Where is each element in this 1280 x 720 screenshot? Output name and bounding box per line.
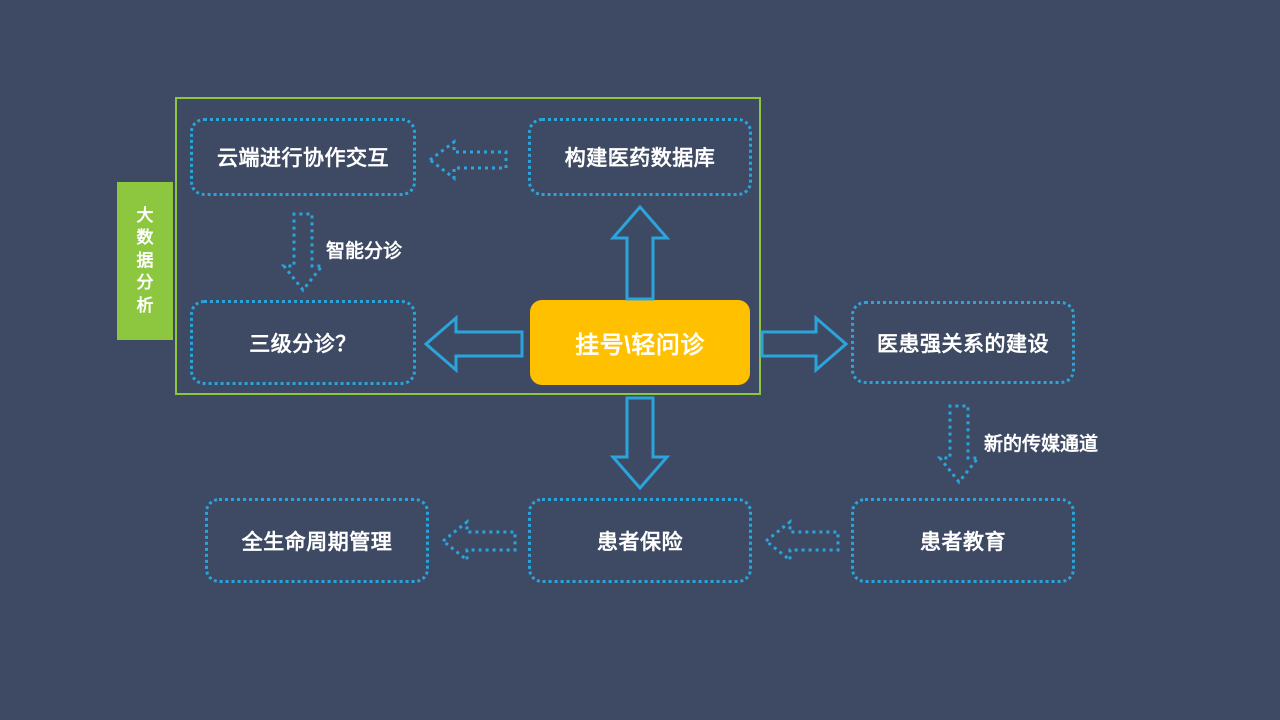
big-data-analysis-tab: 大 数 据 分 析 — [117, 182, 173, 340]
tab-char-3: 据 — [137, 250, 154, 272]
tab-char-5: 析 — [137, 295, 154, 317]
arrow-db-to-cloud — [428, 138, 508, 182]
tab-char-4: 分 — [137, 272, 154, 294]
arrow-education-to-insurance — [764, 518, 840, 564]
node-cloud-collaboration[interactable]: 云端进行协作交互 — [190, 118, 416, 196]
node-label: 医患强关系的建设 — [877, 328, 1049, 358]
node-label: 患者教育 — [920, 526, 1006, 556]
node-label: 挂号\轻问诊 — [575, 325, 705, 360]
arrow-consult-to-insurance — [610, 396, 670, 490]
caption-smart-triage: 智能分诊 — [326, 236, 402, 263]
node-label: 云端进行协作交互 — [217, 142, 389, 172]
node-label: 三级分诊？ — [249, 328, 357, 358]
arrow-cloud-to-triage — [280, 212, 326, 292]
node-patient-insurance[interactable]: 患者保险 — [528, 498, 752, 583]
arrow-relationship-to-education — [936, 404, 982, 484]
node-label: 构建医药数据库 — [565, 142, 716, 172]
arrow-consult-to-triage — [424, 316, 524, 372]
caption-new-media-channel: 新的传媒通道 — [984, 429, 1098, 456]
arrow-insurance-to-lifecycle — [441, 518, 517, 564]
node-patient-education[interactable]: 患者教育 — [851, 498, 1075, 583]
arrow-consult-to-relationship — [760, 316, 848, 372]
node-registration-light-consult[interactable]: 挂号\轻问诊 — [530, 300, 750, 385]
node-doctor-patient-relationship[interactable]: 医患强关系的建设 — [851, 301, 1075, 384]
arrow-consult-to-db — [610, 205, 670, 301]
node-label: 全生命周期管理 — [242, 526, 393, 556]
node-full-lifecycle-management[interactable]: 全生命周期管理 — [205, 498, 429, 583]
tab-char-1: 大 — [137, 205, 154, 227]
node-build-medicine-database[interactable]: 构建医药数据库 — [528, 118, 752, 196]
diagram-canvas: 大 数 据 分 析 云端进行协作交互 构建医药数据库 三级分诊？ 挂号\轻问诊 … — [0, 0, 1280, 720]
node-label: 患者保险 — [597, 526, 683, 556]
node-three-level-triage[interactable]: 三级分诊？ — [190, 300, 416, 385]
tab-char-2: 数 — [137, 227, 154, 249]
